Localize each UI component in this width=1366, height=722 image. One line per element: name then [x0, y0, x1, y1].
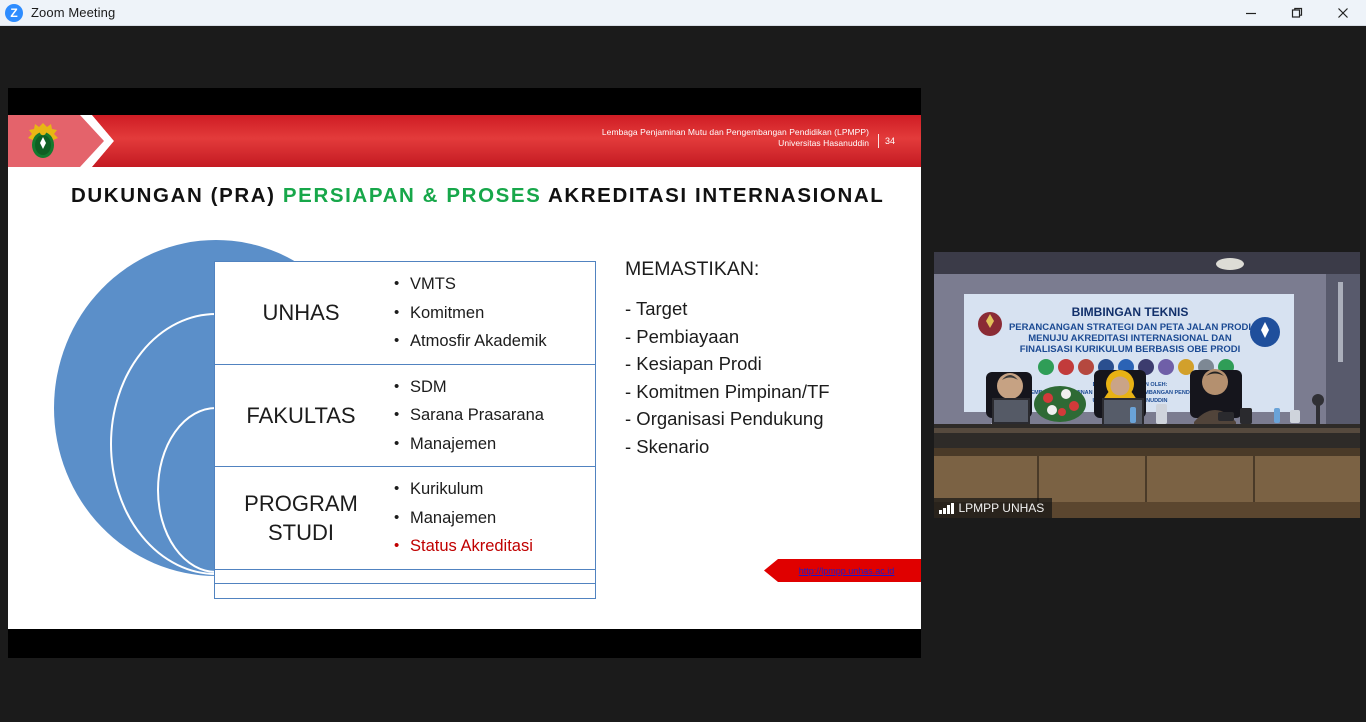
- zoom-app-icon: Z: [5, 4, 23, 22]
- memastikan-heading: MEMASTIKAN:: [625, 258, 830, 281]
- participant-name-bar: LPMPP UNHAS: [934, 498, 1052, 518]
- laptop-center: [1102, 398, 1144, 426]
- list-item: VMTS: [393, 270, 591, 299]
- table-row-empty: [215, 570, 595, 584]
- screen-share-frame[interactable]: Lembaga Penjaminan Mutu dan Pengembangan…: [8, 88, 921, 658]
- list-item: - Target: [625, 295, 830, 323]
- row-items-empty: [387, 570, 595, 583]
- row-label: UNHAS: [215, 262, 387, 364]
- video-banner-line2: MENUJU AKREDITASI INTERNASIONAL DAN: [1028, 333, 1232, 344]
- list-item: Manajemen: [393, 430, 591, 459]
- maximize-button[interactable]: [1274, 0, 1320, 26]
- zoom-logo-letter: Z: [10, 6, 17, 20]
- phone: [1218, 412, 1234, 421]
- presentation-slide: Lembaga Penjaminan Mutu dan Pengembangan…: [8, 115, 921, 629]
- water-bottle: [1274, 408, 1280, 423]
- list-item: - Komitmen Pimpinan/TF: [625, 378, 830, 406]
- list-item: - Pembiayaan: [625, 323, 830, 351]
- list-item: Atmosfir Akademik: [393, 327, 591, 356]
- row-items: VMTS Komitmen Atmosfir Akademik: [387, 262, 595, 364]
- memastikan-panel: MEMASTIKAN: - Target - Pembiayaan - Kesi…: [625, 258, 830, 460]
- water-glass: [1290, 410, 1300, 423]
- table-row: UNHAS VMTS Komitmen Atmosfir Akademik: [215, 262, 595, 365]
- row-items: SDM Sarana Prasarana Manajemen: [387, 365, 595, 467]
- footer-url-arrow: http://lpmpp.unhas.ac.id: [764, 559, 921, 582]
- flower-arrangement: [1034, 386, 1086, 422]
- row-label-empty: [215, 570, 387, 583]
- video-banner-line1: PERANCANGAN STRATEGI DAN PETA JALAN PROD…: [1009, 322, 1251, 333]
- table-row: PROGRAM STUDI Kurikulum Manajemen Status…: [215, 467, 595, 570]
- video-banner-heading: BIMBINGAN TEKNIS: [1072, 305, 1189, 319]
- meeting-canvas: Lembaga Penjaminan Mutu dan Pengembangan…: [0, 26, 1366, 722]
- unhas-crest-icon: [22, 121, 64, 161]
- signal-bars-icon: [939, 503, 954, 514]
- window-title: Zoom Meeting: [31, 5, 115, 20]
- phone: [1240, 408, 1252, 424]
- participant-video-tile[interactable]: BIMBINGAN TEKNIS PERANCANGAN STRATEGI DA…: [934, 252, 1360, 518]
- participant-name: LPMPP UNHAS: [959, 501, 1045, 515]
- row-items-empty: [387, 584, 595, 598]
- list-item-highlight: Status Akreditasi: [393, 532, 591, 561]
- list-item: - Organisasi Pendukung: [625, 405, 830, 433]
- window-controls: [1228, 0, 1366, 26]
- list-item: Manajemen: [393, 504, 591, 533]
- video-banner-line3: FINALISASI KURIKULUM BERBASIS OBE PRODI: [1020, 344, 1241, 355]
- water-glass: [1156, 404, 1167, 424]
- window-titlebar: Z Zoom Meeting: [0, 0, 1366, 26]
- minimize-button[interactable]: [1228, 0, 1274, 26]
- table-row-empty: [215, 584, 595, 598]
- list-item: Kurikulum: [393, 475, 591, 504]
- slide-page-number: 34: [878, 134, 895, 148]
- row-items: Kurikulum Manajemen Status Akreditasi: [387, 467, 595, 569]
- slide-header-org-line1: Lembaga Penjaminan Mutu dan Pengembangan…: [602, 127, 869, 138]
- restore-icon: [1291, 7, 1303, 19]
- laptop-left: [992, 398, 1030, 424]
- slide-header-org: Lembaga Penjaminan Mutu dan Pengembangan…: [602, 127, 869, 148]
- level-matrix-table: UNHAS VMTS Komitmen Atmosfir Akademik FA…: [214, 261, 596, 599]
- list-item: Sarana Prasarana: [393, 401, 591, 430]
- row-label: PROGRAM STUDI: [215, 467, 387, 569]
- row-label: FAKULTAS: [215, 365, 387, 467]
- table-row: FAKULTAS SDM Sarana Prasarana Manajemen: [215, 365, 595, 468]
- list-item: SDM: [393, 373, 591, 402]
- slide-header-org-line2: Universitas Hasanuddin: [602, 138, 869, 149]
- close-icon: [1337, 7, 1349, 19]
- minimize-icon: [1245, 7, 1257, 19]
- video-feed: BIMBINGAN TEKNIS PERANCANGAN STRATEGI DA…: [934, 252, 1360, 518]
- water-bottle: [1130, 407, 1136, 423]
- list-item: - Skenario: [625, 433, 830, 461]
- close-button[interactable]: [1320, 0, 1366, 26]
- row-label-empty: [215, 584, 387, 598]
- footer-url-link[interactable]: http://lpmpp.unhas.ac.id: [791, 566, 895, 576]
- list-item: Komitmen: [393, 299, 591, 328]
- list-item: - Kesiapan Prodi: [625, 350, 830, 378]
